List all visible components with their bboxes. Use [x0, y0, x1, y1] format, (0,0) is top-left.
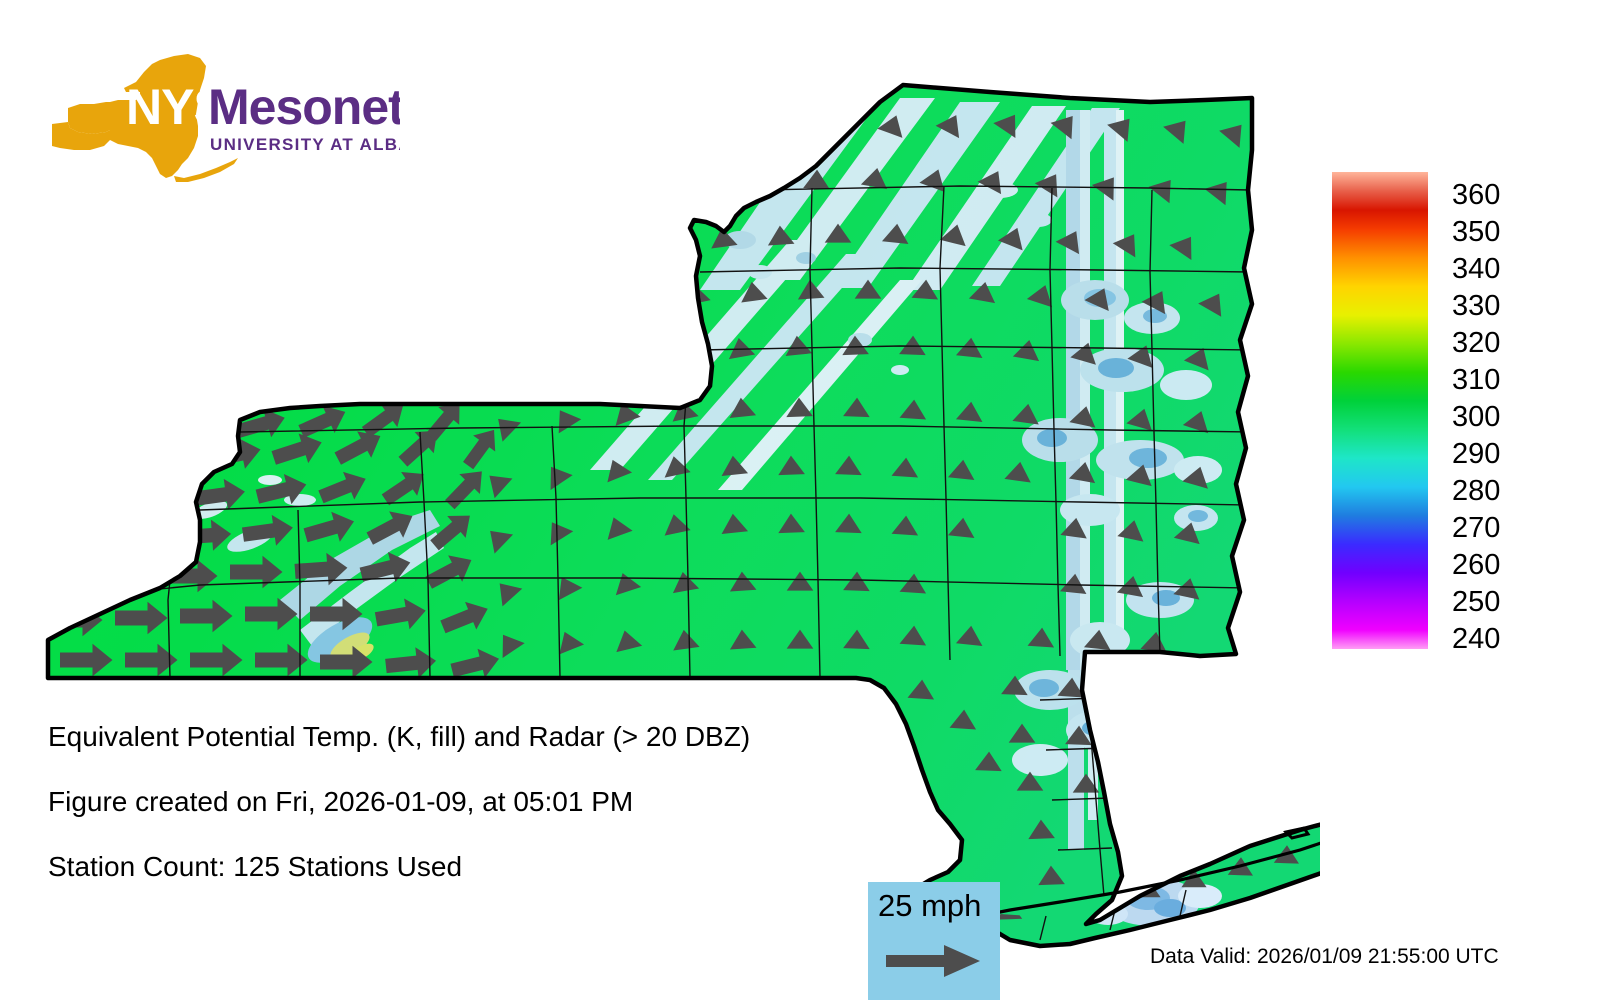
colorbar-tick-290: 290 [1452, 440, 1500, 469]
new-york-state-map [0, 40, 1320, 960]
colorbar-gradient [1332, 172, 1428, 649]
colorbar-tick-330: 330 [1452, 292, 1500, 321]
weather-map-figure: NYS Mesonet UNIVERSITY AT ALBANY [0, 0, 1600, 1000]
colorbar-tick-360: 360 [1452, 181, 1500, 210]
colorbar-tick-250: 250 [1452, 588, 1500, 617]
colorbar-tick-310: 310 [1452, 366, 1500, 395]
colorbar-tick-240: 240 [1452, 625, 1500, 654]
data-valid-text: Data Valid: 2026/01/09 21:55:00 UTC [1150, 946, 1499, 967]
wind-scale-arrow-icon [886, 944, 982, 978]
colorbar-tick-270: 270 [1452, 514, 1500, 543]
figure-created-text: Figure created on Fri, 2026-01-09, at 05… [48, 788, 633, 816]
colorbar-tick-340: 340 [1452, 255, 1500, 284]
colorbar-tick-320: 320 [1452, 329, 1500, 358]
colorbar-tick-300: 300 [1452, 403, 1500, 432]
station-count-text: Station Count: 125 Stations Used [48, 853, 462, 881]
wind-scale-legend: 25 mph [868, 882, 1000, 1000]
colorbar: 360 350 340 330 320 310 300 290 280 270 … [1332, 172, 1592, 652]
colorbar-tick-280: 280 [1452, 477, 1500, 506]
colorbar-tick-260: 260 [1452, 551, 1500, 580]
wind-scale-label: 25 mph [878, 890, 981, 921]
colorbar-tick-350: 350 [1452, 218, 1500, 247]
figure-title: Equivalent Potential Temp. (K, fill) and… [48, 723, 750, 751]
